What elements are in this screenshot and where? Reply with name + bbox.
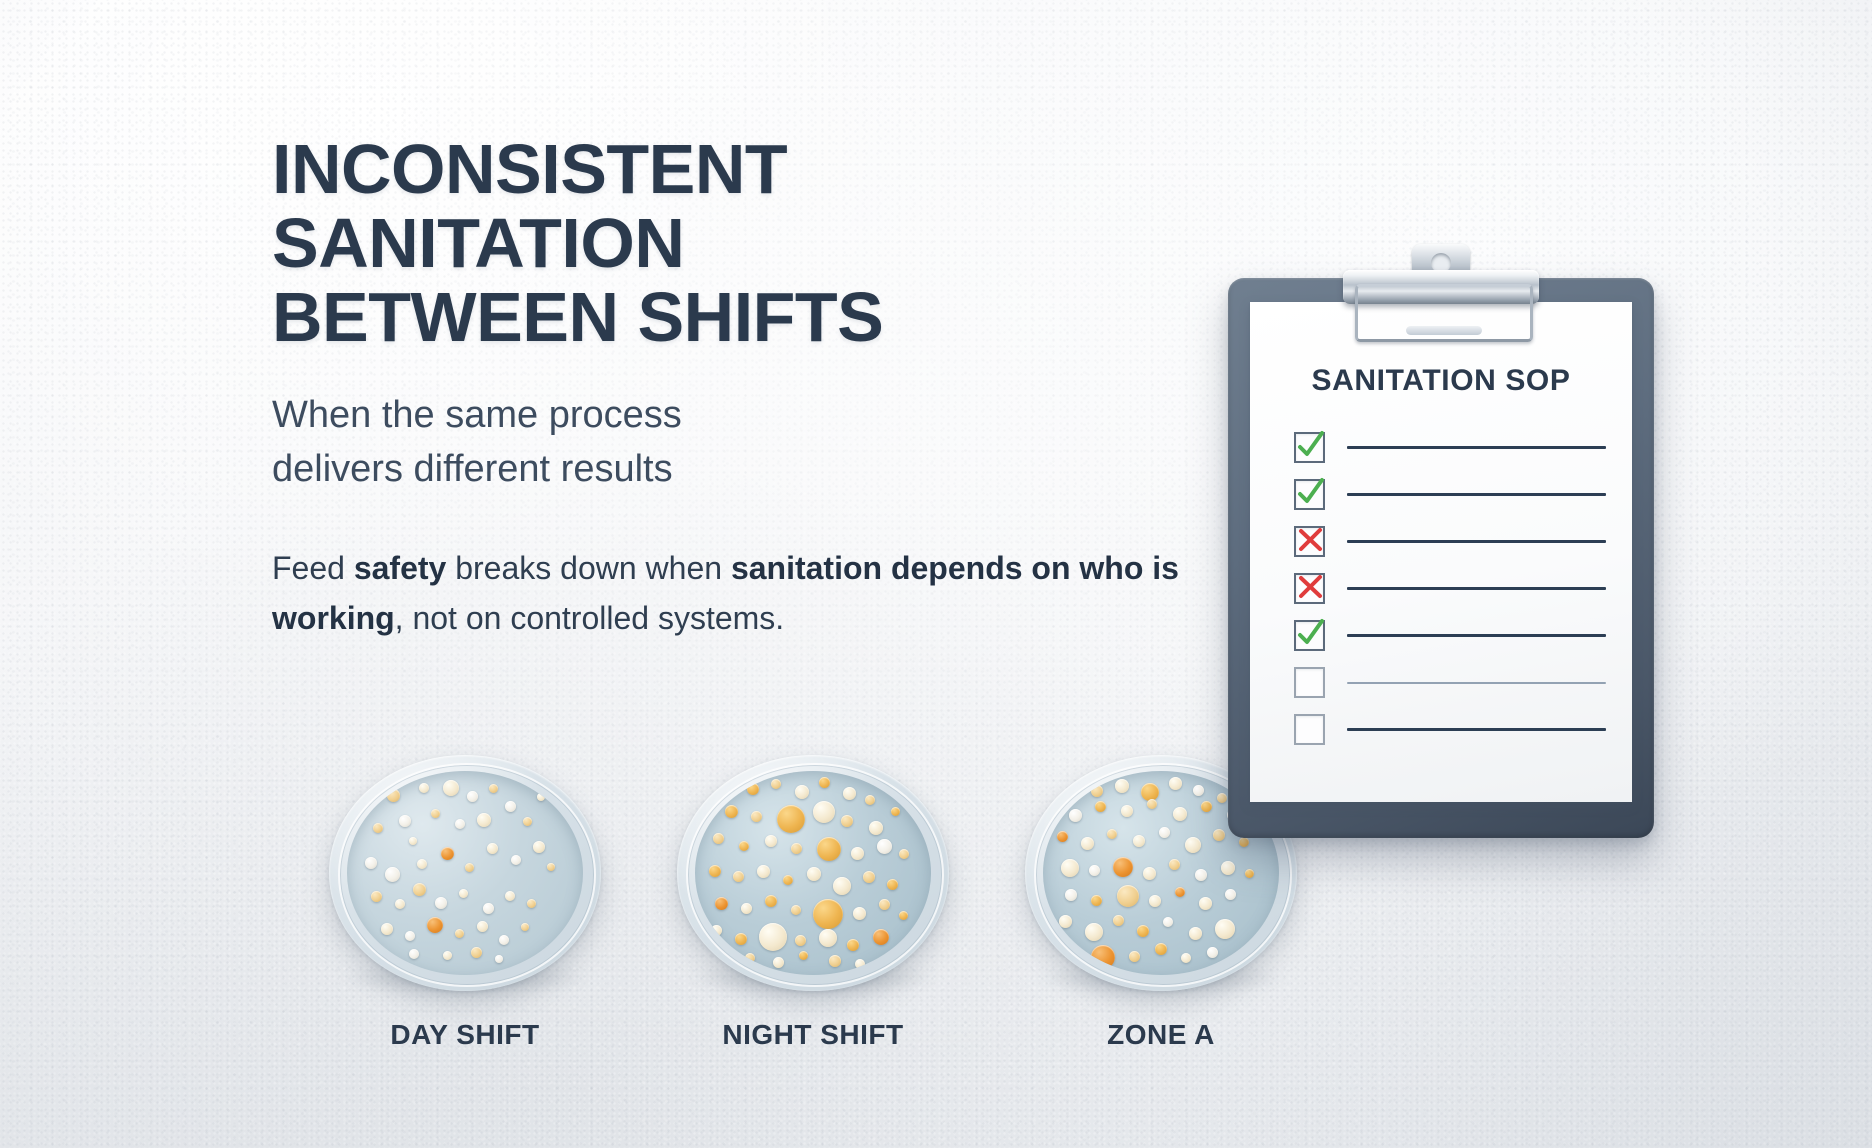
body-segment-1: Feed: [272, 550, 354, 586]
sop-checklist-row[interactable]: [1294, 659, 1606, 706]
subtitle-line-1: When the same process: [272, 389, 1242, 443]
subtitle: When the same process delivers different…: [272, 389, 1242, 497]
petri-dish-rim: [338, 763, 596, 987]
sop-write-line: [1347, 682, 1606, 684]
body-emphasis-safety: safety: [354, 550, 447, 586]
check-icon: [1291, 615, 1329, 653]
sop-checklist-row[interactable]: [1294, 424, 1606, 471]
sop-write-line: [1347, 587, 1606, 590]
sop-checklist-row[interactable]: [1294, 471, 1606, 518]
content-column: INCONSISTENT SANITATION BETWEEN SHIFTS W…: [272, 132, 1242, 644]
headline-line-1: INCONSISTENT: [272, 132, 1242, 206]
check-icon: [1291, 427, 1329, 465]
petri-dish: [677, 755, 949, 991]
sop-checkbox[interactable]: [1294, 573, 1325, 604]
sop-write-line: [1347, 540, 1606, 543]
clipboard-paper: SANITATION SOP: [1250, 302, 1632, 802]
petri-dish-rim: [686, 763, 944, 987]
body-segment-5: , not on controlled systems.: [395, 600, 785, 636]
sop-checklist: [1294, 424, 1606, 753]
sop-checkbox[interactable]: [1294, 479, 1325, 510]
petri-dish: [329, 755, 601, 991]
petri-dish-cell: DAY SHIFT: [320, 755, 610, 1051]
headline-line-3: BETWEEN SHIFTS: [272, 280, 1242, 354]
sop-checklist-row[interactable]: [1294, 706, 1606, 753]
sop-checklist-row[interactable]: [1294, 565, 1606, 612]
poster-canvas: INCONSISTENT SANITATION BETWEEN SHIFTS W…: [0, 0, 1872, 1148]
subtitle-line-2: delivers different results: [272, 443, 1242, 497]
clipboard-clip-icon: [1343, 244, 1539, 340]
sop-checklist-row[interactable]: [1294, 518, 1606, 565]
sop-checklist-row[interactable]: [1294, 612, 1606, 659]
body-paragraph: Feed safety breaks down when sanitation …: [272, 544, 1232, 643]
page-title: INCONSISTENT SANITATION BETWEEN SHIFTS: [272, 132, 1242, 355]
cross-icon: [1291, 568, 1329, 606]
petri-dish-cell: NIGHT SHIFT: [668, 755, 958, 1051]
clip-bail-wire: [1355, 284, 1533, 342]
sop-checkbox[interactable]: [1294, 620, 1325, 651]
sop-checkbox[interactable]: [1294, 714, 1325, 745]
sop-checkbox[interactable]: [1294, 526, 1325, 557]
sop-checkbox[interactable]: [1294, 667, 1325, 698]
clip-bail-highlight: [1406, 326, 1482, 335]
sop-write-line: [1347, 493, 1606, 496]
cross-icon: [1291, 521, 1329, 559]
petri-dish-label: DAY SHIFT: [390, 1019, 539, 1051]
sop-write-line: [1347, 634, 1606, 637]
petri-dish-row: DAY SHIFTNIGHT SHIFTZONE A: [320, 755, 1306, 1051]
sop-checkbox[interactable]: [1294, 432, 1325, 463]
sop-write-line: [1347, 446, 1606, 449]
headline-line-2: SANITATION: [272, 206, 1242, 280]
petri-dish-label: ZONE A: [1107, 1019, 1215, 1051]
check-icon: [1291, 474, 1329, 512]
petri-dish-label: NIGHT SHIFT: [722, 1019, 903, 1051]
body-segment-3: breaks down when: [446, 550, 731, 586]
clipboard: SANITATION SOP: [1228, 278, 1654, 838]
sop-write-line: [1347, 728, 1606, 731]
sop-title: SANITATION SOP: [1250, 364, 1632, 398]
